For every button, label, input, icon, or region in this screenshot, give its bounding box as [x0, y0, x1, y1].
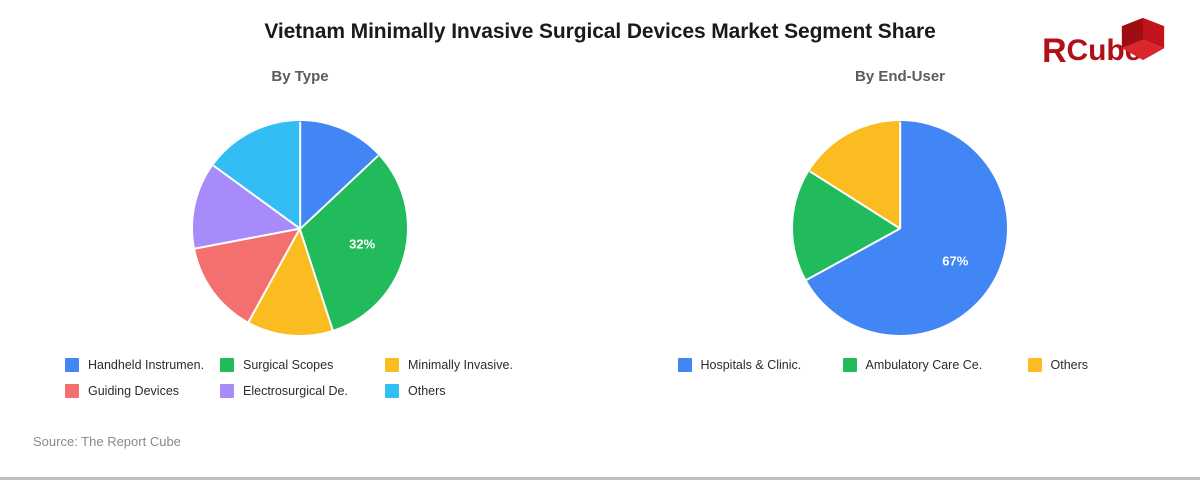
legend-label: Handheld Instrumen.	[88, 358, 204, 372]
legend-color-swatch	[1028, 358, 1042, 372]
legend-item[interactable]: Hospitals & Clinic.	[678, 352, 843, 378]
pie-slice-divider	[195, 228, 300, 250]
page-title: Vietnam Minimally Invasive Surgical Devi…	[0, 20, 1200, 44]
pie-slice-divider	[213, 165, 301, 229]
pie-slice-divider	[248, 228, 301, 323]
pie-chart-by-type: 32%	[193, 121, 407, 335]
legend-item[interactable]: Guiding Devices	[65, 378, 220, 404]
pie-slice-value-label: 32%	[349, 236, 375, 251]
legend-label: Electrosurgical De.	[243, 384, 348, 398]
legend-color-swatch	[678, 358, 692, 372]
legend-row: Handheld Instrumen.Surgical ScopesMinima…	[0, 352, 600, 378]
pie-slice-value-label: 67%	[942, 253, 968, 268]
pie-slice-divider	[299, 229, 334, 331]
legend-color-swatch	[65, 358, 79, 372]
legend-label: Ambulatory Care Ce.	[866, 358, 983, 372]
legend-item[interactable]: Minimally Invasive.	[385, 352, 535, 378]
legend-color-swatch	[220, 358, 234, 372]
legend-label: Others	[1051, 358, 1089, 372]
legend-item[interactable]: Others	[1028, 352, 1123, 378]
legend-color-swatch	[220, 384, 234, 398]
pie-slice-divider	[899, 122, 901, 229]
legend-item[interactable]: Others	[385, 378, 535, 404]
legend-color-swatch	[385, 358, 399, 372]
pie-slice-divider	[806, 228, 901, 281]
chart-panel-by-type: By Type 32% Handheld Instrumen.Surgical …	[0, 60, 600, 420]
source-note: Source: The Report Cube	[33, 434, 181, 449]
chart-panel-by-end-user: By End-User 67% Hospitals & Clinic.Ambul…	[600, 60, 1200, 420]
legend-item[interactable]: Surgical Scopes	[220, 352, 385, 378]
legend-color-swatch	[385, 384, 399, 398]
legend-item[interactable]: Handheld Instrumen.	[65, 352, 220, 378]
pie-slice-divider	[809, 171, 900, 230]
legend-by-end-user: Hospitals & Clinic.Ambulatory Care Ce.Ot…	[600, 352, 1200, 378]
legend-by-type: Handheld Instrumen.Surgical ScopesMinima…	[0, 352, 600, 404]
legend-item[interactable]: Ambulatory Care Ce.	[843, 352, 1028, 378]
legend-color-swatch	[843, 358, 857, 372]
legend-label: Surgical Scopes	[243, 358, 333, 372]
chart-canvas: Vietnam Minimally Invasive Surgical Devi…	[0, 0, 1200, 480]
legend-label: Guiding Devices	[88, 384, 179, 398]
legend-label: Hospitals & Clinic.	[701, 358, 802, 372]
legend-row: Guiding DevicesElectrosurgical De.Others	[0, 378, 600, 404]
legend-row: Hospitals & Clinic.Ambulatory Care Ce.Ot…	[600, 352, 1200, 378]
pie-slice-divider	[299, 155, 378, 229]
pie-chart-by-end-user: 67%	[793, 121, 1007, 335]
legend-color-swatch	[65, 384, 79, 398]
legend-label: Minimally Invasive.	[408, 358, 513, 372]
pie-slice-divider	[299, 122, 301, 229]
cube-icon	[1120, 16, 1166, 62]
chart-subtitle-by-type: By Type	[0, 68, 600, 85]
legend-label: Others	[408, 384, 446, 398]
legend-item[interactable]: Electrosurgical De.	[220, 378, 385, 404]
chart-subtitle-by-end-user: By End-User	[600, 68, 1200, 85]
